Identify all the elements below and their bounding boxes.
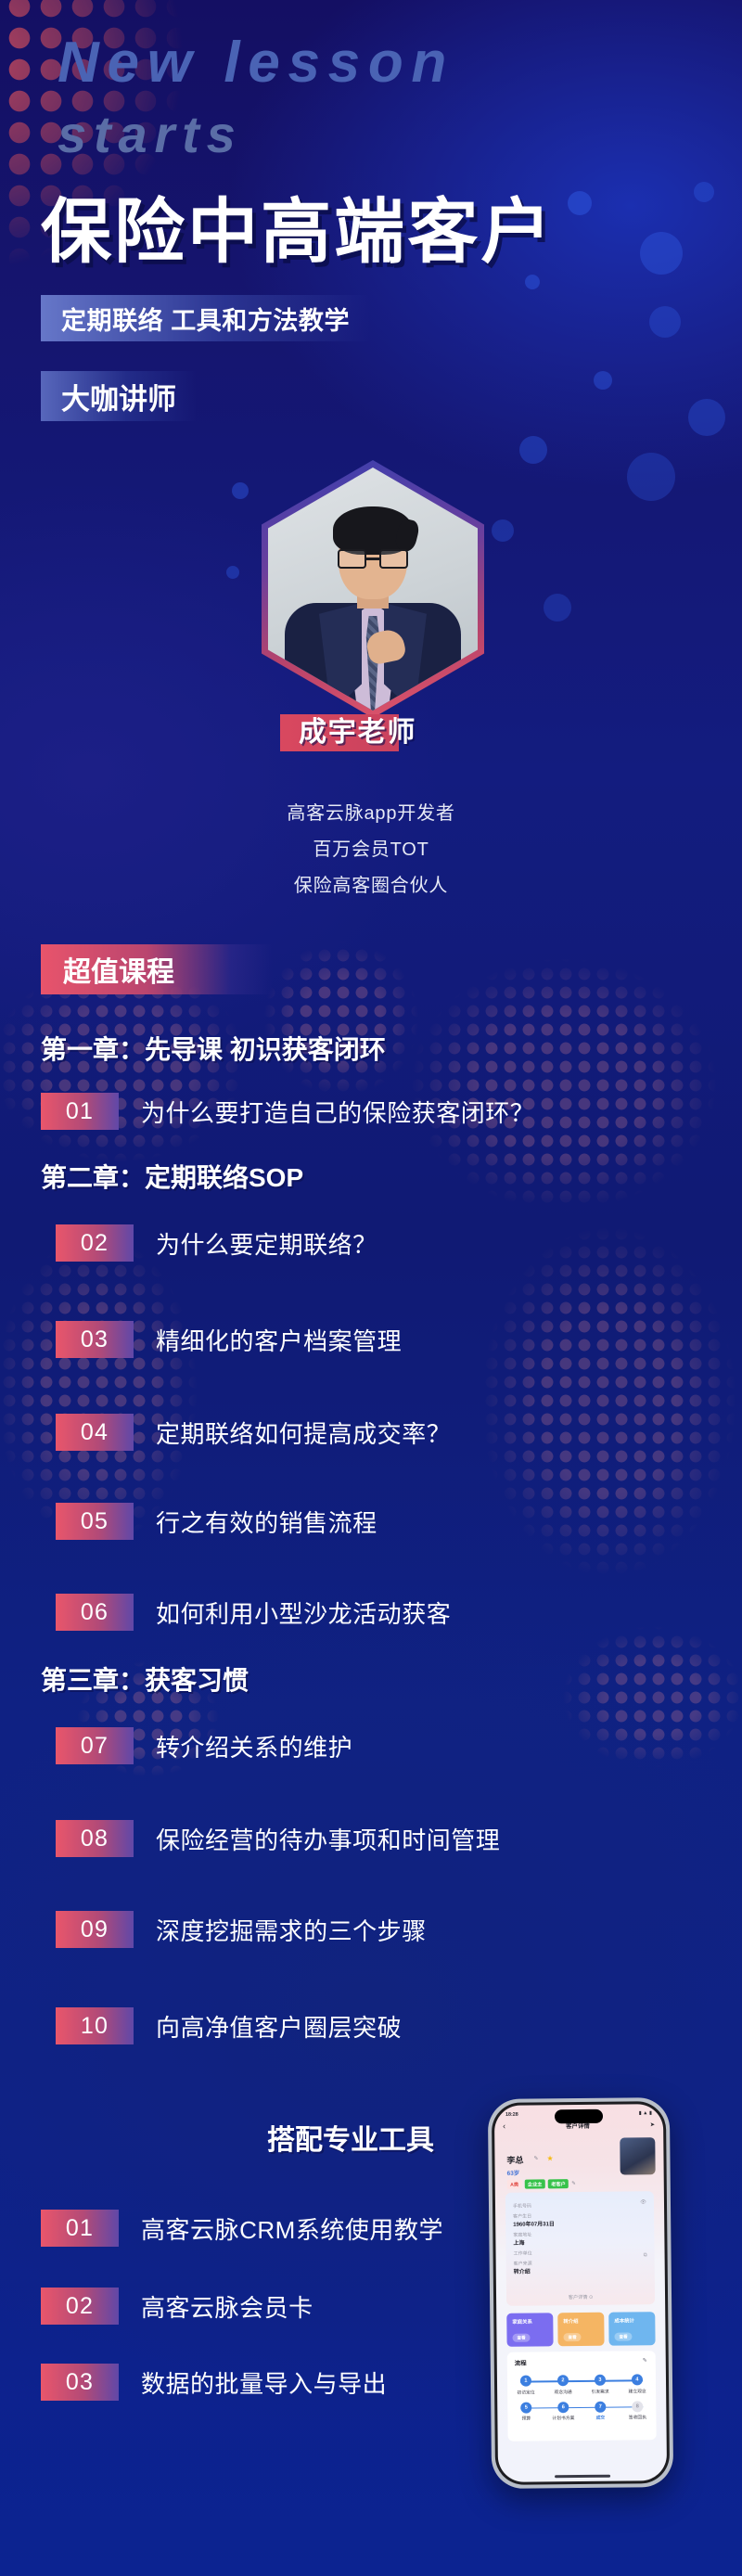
tool-item[interactable]: 03 数据的批量导入与导出 (41, 2364, 387, 2401)
tool-item-number: 02 (41, 2288, 119, 2325)
flow-step[interactable]: 5 预算 (515, 2402, 537, 2422)
course-item-label: 行之有效的销售流程 (156, 1505, 377, 1539)
course-item-label: 保险经营的待办事项和时间管理 (156, 1822, 500, 1856)
tag-grade: A类 (507, 2180, 522, 2189)
customer-tags: A类 企业主 老客户 ✎ (507, 2179, 576, 2189)
instructor-credentials: 高客云脉app开发者 百万会员TOT 保险高客圈合伙人 (0, 796, 742, 904)
flow-step-label: 初访定位 (515, 2389, 537, 2395)
sales-flow-card: 流程 ✎ 1 初访定位 2 观念沟通 3 引发 (507, 2351, 657, 2441)
flow-step-label: 计划书方案 (552, 2415, 574, 2421)
glasses-icon (338, 549, 408, 570)
course-item-label: 为什么要定期联络？ (156, 1226, 377, 1261)
field-label: 工作单位 (514, 2249, 647, 2257)
phone-bezel: 18:28 ▮ ▲ ▮ ‹ 客户详情 ➤ 李总 ✎ ★ 63岁 A类 企业主 老… (492, 2101, 670, 2485)
flow-step[interactable]: 6 计划书方案 (552, 2402, 574, 2422)
flow-step-label: 成交 (589, 2415, 611, 2421)
customer-info-card: 手机号码 客户生日 1960年07月31日 家庭地址 上海 工作单位 客户来源 … (505, 2191, 655, 2306)
hero-english-line-2: starts (58, 104, 243, 164)
flow-step[interactable]: 4 建立观念 (626, 2374, 648, 2394)
customer-age: 63岁 (507, 2169, 520, 2177)
flow-step-number: 8 (632, 2401, 643, 2412)
bokeh-circle (544, 594, 571, 622)
flow-step[interactable]: 3 引发需求 (589, 2375, 611, 2395)
field-value: 转介绍 (514, 2265, 647, 2275)
flow-step-number: 7 (595, 2401, 606, 2412)
course-item-label: 向高净值客户圈层突破 (156, 2009, 402, 2044)
course-item-number: 04 (56, 1414, 134, 1451)
status-time: 18:28 (505, 2111, 518, 2117)
course-item-number: 05 (56, 1503, 134, 1540)
course-item-label: 转介绍关系的维护 (156, 1729, 352, 1763)
quick-card-action: 查看 (512, 2334, 530, 2342)
card-footer-link[interactable]: 客户详情 ⊙ (506, 2293, 655, 2301)
course-section-title: 超值课程 (41, 944, 273, 994)
phone-screen: 18:28 ▮ ▲ ▮ ‹ 客户详情 ➤ 李总 ✎ ★ 63岁 A类 企业主 老… (494, 2104, 667, 2482)
phone-mockup: 18:28 ▮ ▲ ▮ ‹ 客户详情 ➤ 李总 ✎ ★ 63岁 A类 企业主 老… (488, 2097, 673, 2489)
flow-step[interactable]: 7 成交 (589, 2401, 611, 2421)
bokeh-circle (226, 566, 239, 579)
course-item-number: 08 (56, 1820, 134, 1857)
flow-step-number: 6 (557, 2402, 569, 2413)
field-value: 上海 (513, 2236, 646, 2247)
flow-step-label: 预算 (515, 2415, 537, 2421)
course-item-number: 01 (41, 1093, 119, 1130)
back-icon[interactable]: ‹ (503, 2121, 505, 2131)
flow-step-label: 观念沟通 (552, 2389, 574, 2395)
quick-card-action: 查看 (614, 2333, 632, 2341)
course-item-label: 深度挖掘需求的三个步骤 (156, 1913, 427, 1947)
flow-step-number: 3 (595, 2375, 606, 2386)
instructor-photo (262, 460, 484, 718)
tool-item-number: 03 (41, 2364, 119, 2401)
course-item-number: 06 (56, 1594, 134, 1631)
tool-item-label: 高客云脉会员卡 (141, 2289, 313, 2324)
pencil-icon[interactable]: ✎ (643, 2357, 647, 2364)
course-item-number: 02 (56, 1224, 134, 1262)
speaker-chip: 大咖讲师 (41, 371, 197, 421)
bokeh-circle (492, 519, 514, 542)
flow-step-number: 4 (632, 2374, 643, 2385)
course-item-number: 09 (56, 1911, 134, 1948)
quick-card-action: 查看 (563, 2333, 581, 2341)
instructor-name: 成宇老师 (299, 709, 521, 750)
quick-card-title: 家庭关系 (512, 2320, 532, 2326)
course-item[interactable]: 06 如何利用小型沙龙活动获客 (56, 1594, 451, 1631)
course-item[interactable]: 09 深度挖掘需求的三个步骤 (56, 1911, 427, 1948)
tool-item[interactable]: 02 高客云脉会员卡 (41, 2288, 313, 2325)
tool-item-label: 数据的批量导入与导出 (141, 2365, 387, 2400)
course-item[interactable]: 01 为什么要打造自己的保险获客闭环？ (41, 1093, 534, 1130)
tool-item-label: 高客云脉CRM系统使用教学 (141, 2211, 443, 2246)
course-item-label: 定期联络如何提高成交率？ (156, 1416, 451, 1450)
quick-card-title: 转介绍 (563, 2319, 578, 2325)
quick-card-cost[interactable]: 成本统计 查看 (608, 2312, 655, 2346)
flow-step-number: 1 (520, 2376, 531, 2387)
flow-step[interactable]: 8 签收回执 (626, 2401, 648, 2421)
flow-step-number: 5 (520, 2402, 531, 2413)
flow-step[interactable]: 1 初访定位 (515, 2375, 537, 2395)
flow-step-label: 引发需求 (589, 2388, 611, 2394)
bokeh-circle (627, 453, 675, 501)
tool-item[interactable]: 01 高客云脉CRM系统使用教学 (41, 2210, 443, 2247)
eye-icon[interactable]: 👁 (640, 2199, 646, 2205)
tag-occupation: 企业主 (524, 2179, 544, 2188)
flow-steps: 1 初访定位 2 观念沟通 3 引发需求 4 建 (515, 2374, 649, 2422)
course-item[interactable]: 04 定期联络如何提高成交率？ (56, 1414, 451, 1451)
credential-item: 百万会员TOT (0, 832, 742, 868)
customer-name: 李总 (506, 2154, 523, 2166)
edit-icon[interactable]: ✎ (533, 2155, 538, 2161)
bokeh-circle (519, 436, 547, 464)
share-icon[interactable]: ➤ (650, 2121, 655, 2128)
flow-step[interactable]: 2 观念沟通 (552, 2375, 574, 2395)
field-value: 1960年07月31日 (513, 2218, 646, 2228)
course-item-number: 03 (56, 1321, 134, 1358)
course-item-number: 07 (56, 1727, 134, 1764)
edit-tags-icon[interactable]: ✎ (571, 2181, 576, 2186)
course-item[interactable]: 08 保险经营的待办事项和时间管理 (56, 1820, 500, 1857)
quick-action-cards: 家庭关系 查看 转介绍 查看 成本统计 查看 (506, 2312, 655, 2347)
course-item[interactable]: 02 为什么要定期联络？ (56, 1224, 377, 1262)
course-item[interactable]: 10 向高净值客户圈层突破 (56, 2007, 402, 2044)
course-item-label: 如何利用小型沙龙活动获客 (156, 1596, 451, 1630)
flow-step-label: 建立观念 (626, 2388, 648, 2394)
credential-item: 保险高客圈合伙人 (0, 868, 742, 904)
quick-card-referral[interactable]: 转介绍 查看 (557, 2313, 604, 2347)
chapter-title-3: 第三章：获客习惯 (41, 1660, 249, 1698)
home-indicator (555, 2475, 610, 2478)
avatar (620, 2137, 655, 2174)
quick-card-title: 成本统计 (614, 2318, 634, 2324)
page-title: 保险中高端客户 (41, 174, 554, 276)
star-icon[interactable]: ★ (546, 2154, 553, 2162)
flow-title: 流程 (515, 2357, 648, 2367)
flow-step-number: 2 (557, 2375, 569, 2386)
tool-item-number: 01 (41, 2210, 119, 2247)
flow-row-2: 5 预算 6 计划书方案 7 成交 8 签收回执 (515, 2401, 648, 2422)
dynamic-island (555, 2109, 603, 2124)
copy-icon[interactable]: ⧉ (644, 2252, 647, 2259)
course-item[interactable]: 07 转介绍关系的维护 (56, 1727, 352, 1764)
course-item-label: 为什么要打造自己的保险获客闭环？ (141, 1095, 534, 1129)
credential-item: 高客云脉app开发者 (0, 796, 742, 832)
course-item-label: 精细化的客户档案管理 (156, 1323, 402, 1357)
field-label: 手机号码 (513, 2201, 646, 2210)
chapter-title-1: 第一章：先导课 初识获客闭环 (41, 1030, 386, 1067)
flow-row-1: 1 初访定位 2 观念沟通 3 引发需求 4 建 (515, 2374, 648, 2395)
flow-step-label: 签收回执 (626, 2414, 648, 2420)
tools-section-title: 搭配专业工具 (267, 2117, 434, 2158)
quick-card-family[interactable]: 家庭关系 查看 (506, 2313, 553, 2347)
portrait-hair (333, 506, 413, 555)
course-item-number: 10 (56, 2007, 134, 2044)
subtitle-chip: 定期联络 工具和方法教学 (41, 295, 370, 341)
course-item[interactable]: 03 精细化的客户档案管理 (56, 1321, 402, 1358)
bokeh-circle (232, 482, 249, 499)
status-icons: ▮ ▲ ▮ (639, 2110, 652, 2116)
chapter-title-2: 第二章：定期联络SOP (41, 1158, 303, 1195)
tag-status: 老客户 (548, 2179, 569, 2188)
course-item[interactable]: 05 行之有效的销售流程 (56, 1503, 377, 1540)
hero-section: New lesson starts 保险中高端客户 定期联络 工具和方法教学 大… (0, 0, 742, 436)
hero-english-line-1: New lesson (58, 30, 454, 96)
